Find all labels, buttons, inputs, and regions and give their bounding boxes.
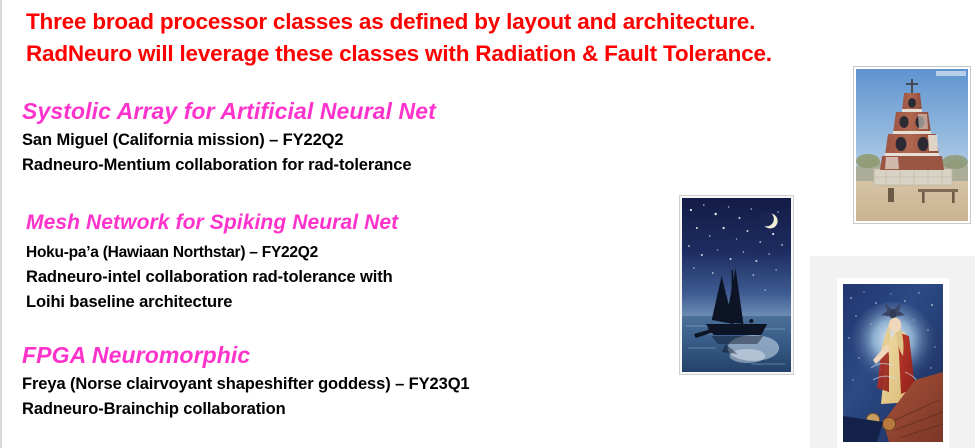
body-line: Hoku-pa’a (Hawiaan Northstar) – FY22Q2 (26, 240, 398, 265)
body-line: Radneuro-intel collaboration rad-toleran… (26, 265, 398, 290)
section-body-mesh-network: Hoku-pa’a (Hawiaan Northstar) – FY22Q2 R… (26, 240, 398, 315)
body-line: Radneuro-Brainchip collaboration (22, 397, 470, 422)
san-miguel-mission-photo (853, 66, 971, 224)
voyaging-canoe-illustration (682, 198, 791, 372)
section-body-fpga-neuromorphic: Freya (Norse clairvoyant shapeshifter go… (22, 372, 470, 422)
body-line: Freya (Norse clairvoyant shapeshifter go… (22, 372, 470, 397)
title-line-2: RadNeuro will leverage these classes wit… (26, 38, 906, 70)
hokupaa-voyaging-canoe-image (679, 195, 794, 375)
section-fpga-neuromorphic: FPGA Neuromorphic Freya (Norse clairvoya… (22, 340, 470, 422)
body-line: San Miguel (California mission) – FY22Q2 (22, 128, 436, 153)
section-heading-fpga-neuromorphic: FPGA Neuromorphic (22, 340, 470, 370)
body-line: Radneuro-Mentium collaboration for rad-t… (22, 153, 436, 178)
section-body-systolic-array: San Miguel (California mission) – FY22Q2… (22, 128, 436, 178)
freya-goddess-image (837, 278, 949, 448)
section-heading-systolic-array: Systolic Array for Artificial Neural Net (22, 96, 436, 126)
body-line: Loihi baseline architecture (26, 290, 398, 315)
slide-canvas: Three broad processor classes as defined… (0, 0, 975, 448)
title-line-1: Three broad processor classes as defined… (26, 6, 906, 38)
section-systolic-array: Systolic Array for Artificial Neural Net… (22, 96, 436, 178)
section-heading-mesh-network: Mesh Network for Spiking Neural Net (26, 208, 398, 238)
freya-goddess-illustration (843, 284, 943, 442)
section-mesh-network: Mesh Network for Spiking Neural Net Hoku… (26, 208, 398, 315)
slide-title: Three broad processor classes as defined… (26, 6, 906, 70)
san-miguel-mission-illustration (856, 69, 968, 221)
photo-watermark (936, 71, 966, 76)
